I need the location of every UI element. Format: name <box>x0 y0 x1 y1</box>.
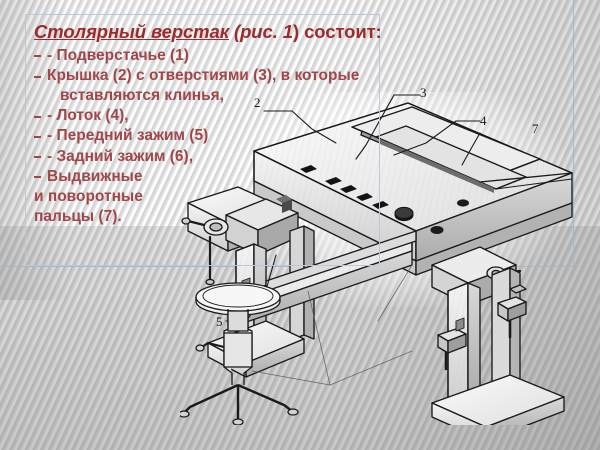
page-title: Столярный верстак (рис. 1) состоит: <box>34 21 371 43</box>
list-item: - Передний зажим (5) <box>34 126 371 146</box>
list-item: - Лоток (4), <box>34 106 371 126</box>
list-item: Крышка (2) с отверстиями (3), в которые <box>34 66 371 86</box>
list-item: Выдвижные <box>34 167 371 187</box>
title-tail: ) состоит: <box>293 21 382 42</box>
callout-5: 5 <box>216 314 223 329</box>
list-item: пальцы (7). <box>34 207 371 227</box>
callout-7: 7 <box>532 121 539 136</box>
slide-canvas: 2 3 4 5 7 <box>0 0 600 450</box>
title-figure-ref: (рис. 1 <box>234 21 293 42</box>
list-item: - Подверстачье (1) <box>34 46 371 66</box>
list-item: вставляются клинья, <box>34 86 371 106</box>
list-item: - Задний зажим (6), <box>34 147 371 167</box>
list-item: и поворотные <box>34 187 371 207</box>
callout-3: 3 <box>420 85 427 100</box>
title-underlined: Столярный верстак <box>34 21 229 42</box>
bullet-list: - Подверстачье (1) Крышка (2) с отверсти… <box>34 46 371 227</box>
callout-4: 4 <box>480 113 487 128</box>
text-panel: Столярный верстак (рис. 1) состоит: - По… <box>25 14 380 266</box>
